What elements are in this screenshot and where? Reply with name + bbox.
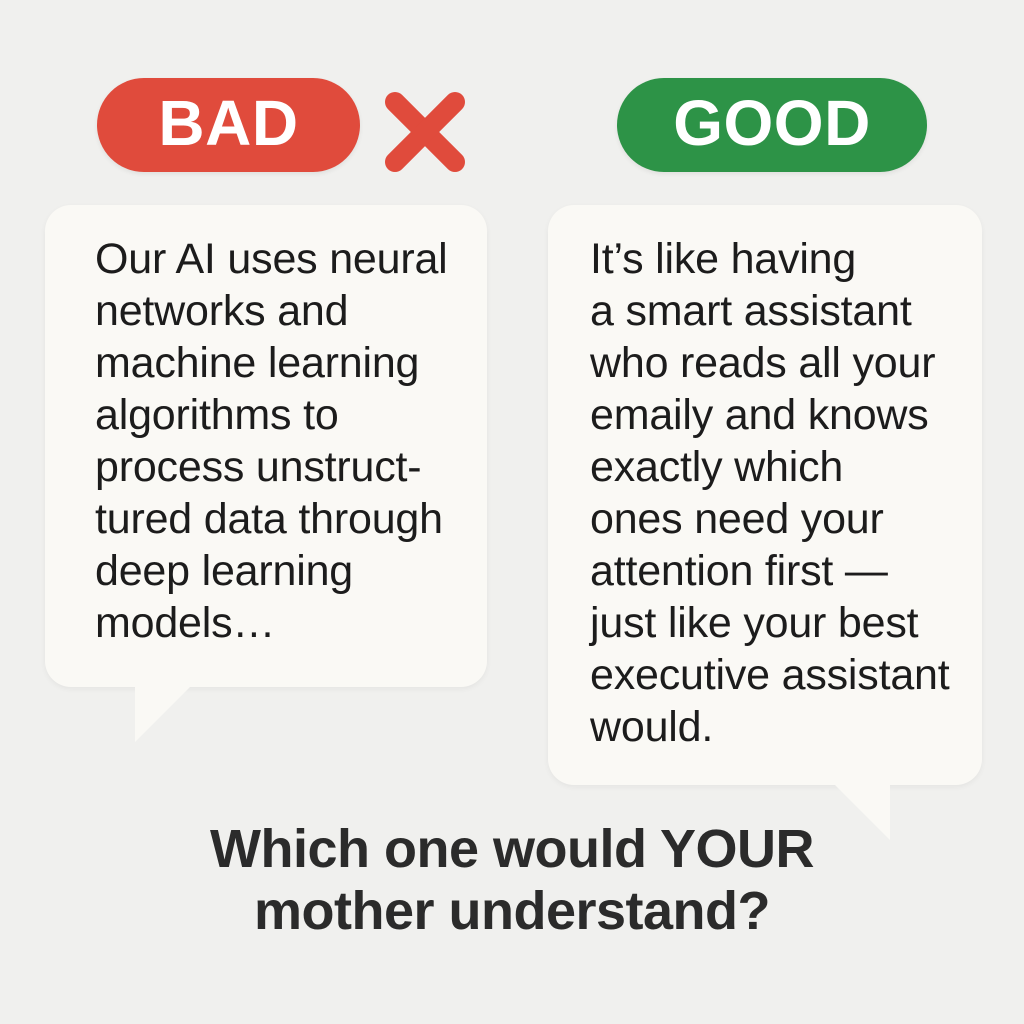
cross-mark-icon xyxy=(382,89,468,175)
speech-bubble-bad: Our AI uses neural networks and machine … xyxy=(45,205,487,687)
speech-bubble-good: It’s like having a smart assistant who r… xyxy=(548,205,982,785)
speech-bubble-bad-text: Our AI uses neural networks and machine … xyxy=(95,233,469,649)
comparison-graphic: BAD GOOD Our AI uses neural networks and… xyxy=(0,0,1024,1024)
badge-bad-label: BAD xyxy=(158,91,298,155)
badge-bad: BAD xyxy=(97,78,360,172)
caption-text: Which one would YOUR mother understand? xyxy=(0,818,1024,942)
badge-good-label: GOOD xyxy=(673,91,871,155)
badge-good: GOOD xyxy=(617,78,927,172)
speech-bubble-good-text: It’s like having a smart assistant who r… xyxy=(590,233,964,753)
speech-bubble-bad-tail xyxy=(135,686,191,742)
